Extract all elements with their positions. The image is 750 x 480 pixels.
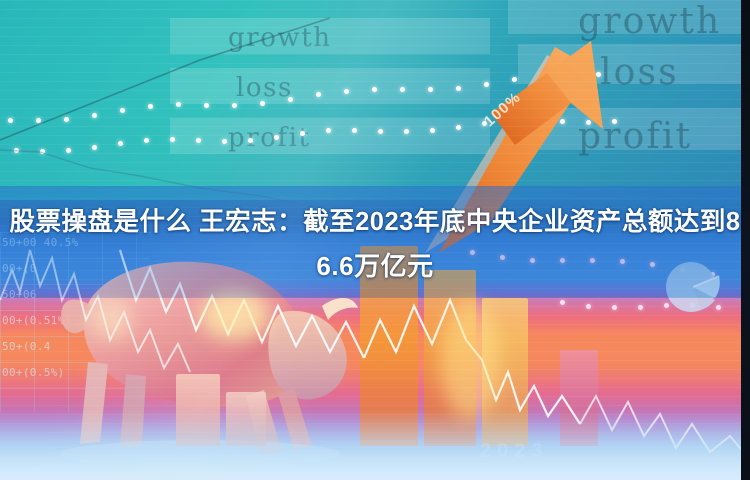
headline-block: 股票操盘是什么 王宏志：截至2023年底中央企业资产总额达到8 6.6万亿元 bbox=[0, 200, 750, 288]
news-banner-image: growth loss profit growth loss profit bbox=[0, 0, 750, 480]
headline-line-2: 6.6万亿元 bbox=[0, 244, 750, 288]
bottom-reflection bbox=[0, 410, 750, 480]
right-dark-edge bbox=[741, 0, 750, 480]
headline-line-1: 股票操盘是什么 王宏志：截至2023年底中央企业资产总额达到8 bbox=[0, 200, 750, 244]
